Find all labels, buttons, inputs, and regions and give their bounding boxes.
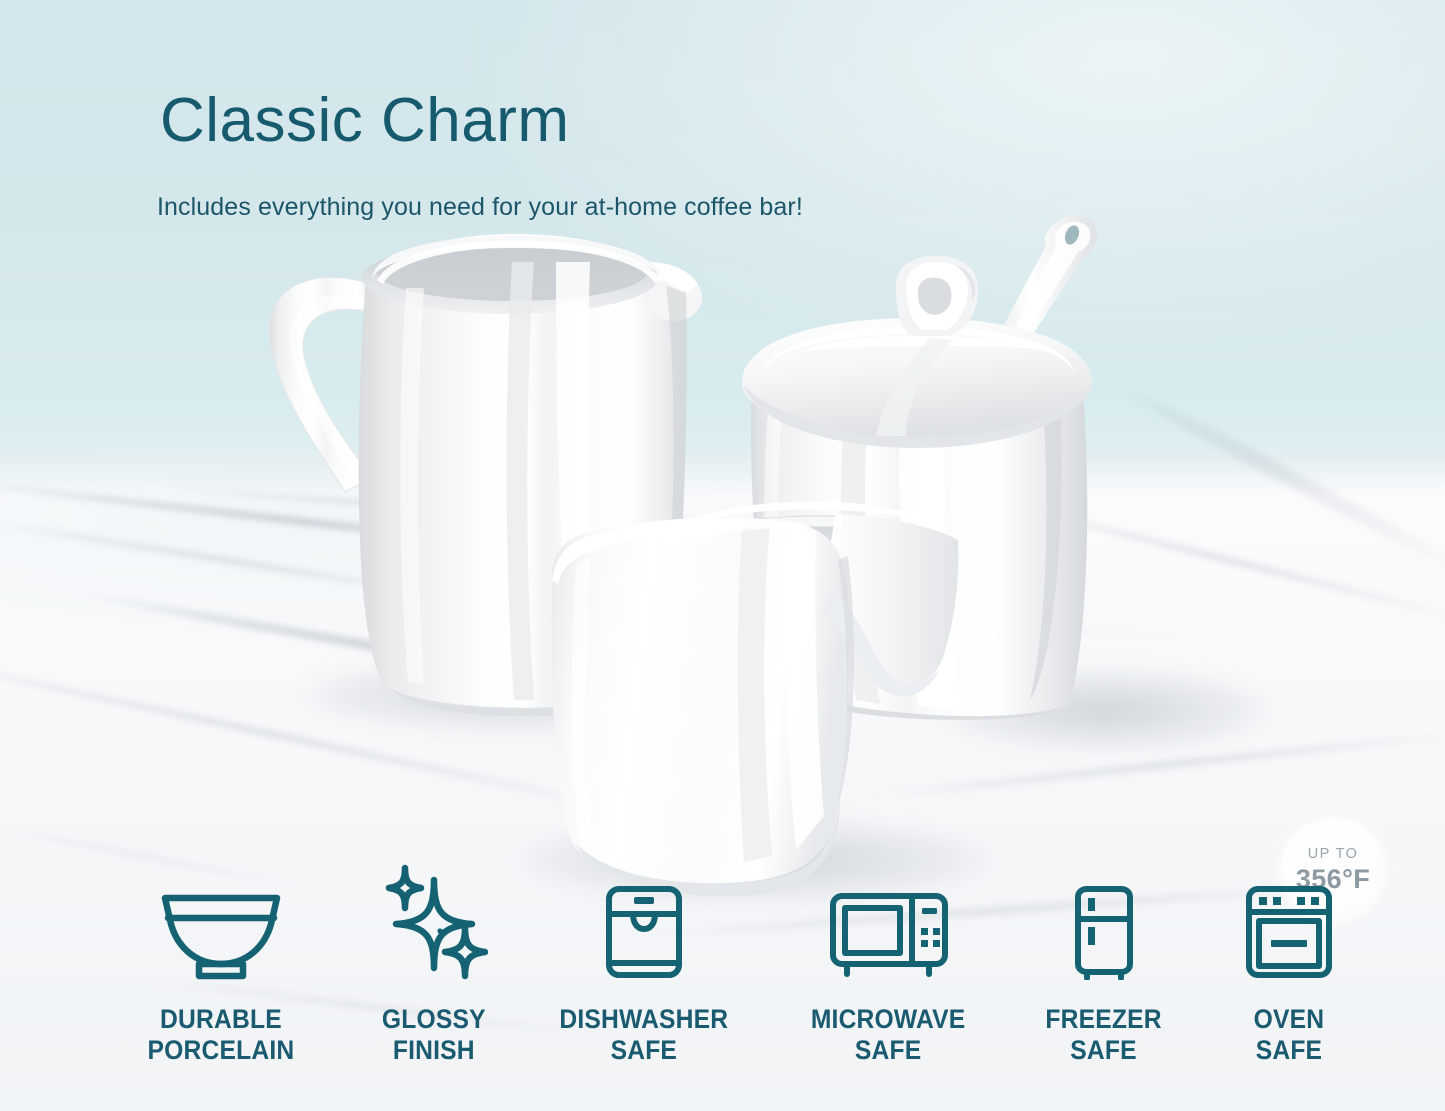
sparkle-icon [375, 880, 493, 980]
product-infographic: Classic Charm Includes everything you ne… [0, 0, 1445, 1111]
feature-microwave-safe: MICROWAVE SAFE [766, 880, 1011, 1067]
badge-prefix: UP TO [1308, 846, 1359, 862]
bowl-icon [159, 880, 283, 980]
feature-label: OVEN SAFE [1253, 1004, 1324, 1067]
feature-label: MICROWAVE SAFE [811, 1004, 966, 1067]
feature-oven-safe: OVEN SAFE [1196, 880, 1381, 1067]
feature-label: DURABLE PORCELAIN [148, 1004, 295, 1067]
microwave-icon [829, 880, 949, 980]
feature-durable-porcelain: DURABLE PORCELAIN [96, 880, 346, 1067]
feature-label: GLOSSY FINISH [382, 1004, 486, 1067]
feature-label: DISHWASHER SAFE [559, 1004, 728, 1067]
feature-label: FREEZER SAFE [1045, 1004, 1161, 1067]
dishwasher-icon [604, 880, 684, 980]
feature-dishwasher-safe: DISHWASHER SAFE [521, 880, 766, 1067]
oven-icon [1245, 880, 1333, 980]
feature-glossy-finish: GLOSSY FINISH [346, 880, 521, 1067]
feature-freezer-safe: FREEZER SAFE [1011, 880, 1196, 1067]
freezer-icon [1073, 880, 1135, 980]
feature-list: DURABLE PORCELAIN GLOSSY FINISH [96, 880, 1386, 1100]
